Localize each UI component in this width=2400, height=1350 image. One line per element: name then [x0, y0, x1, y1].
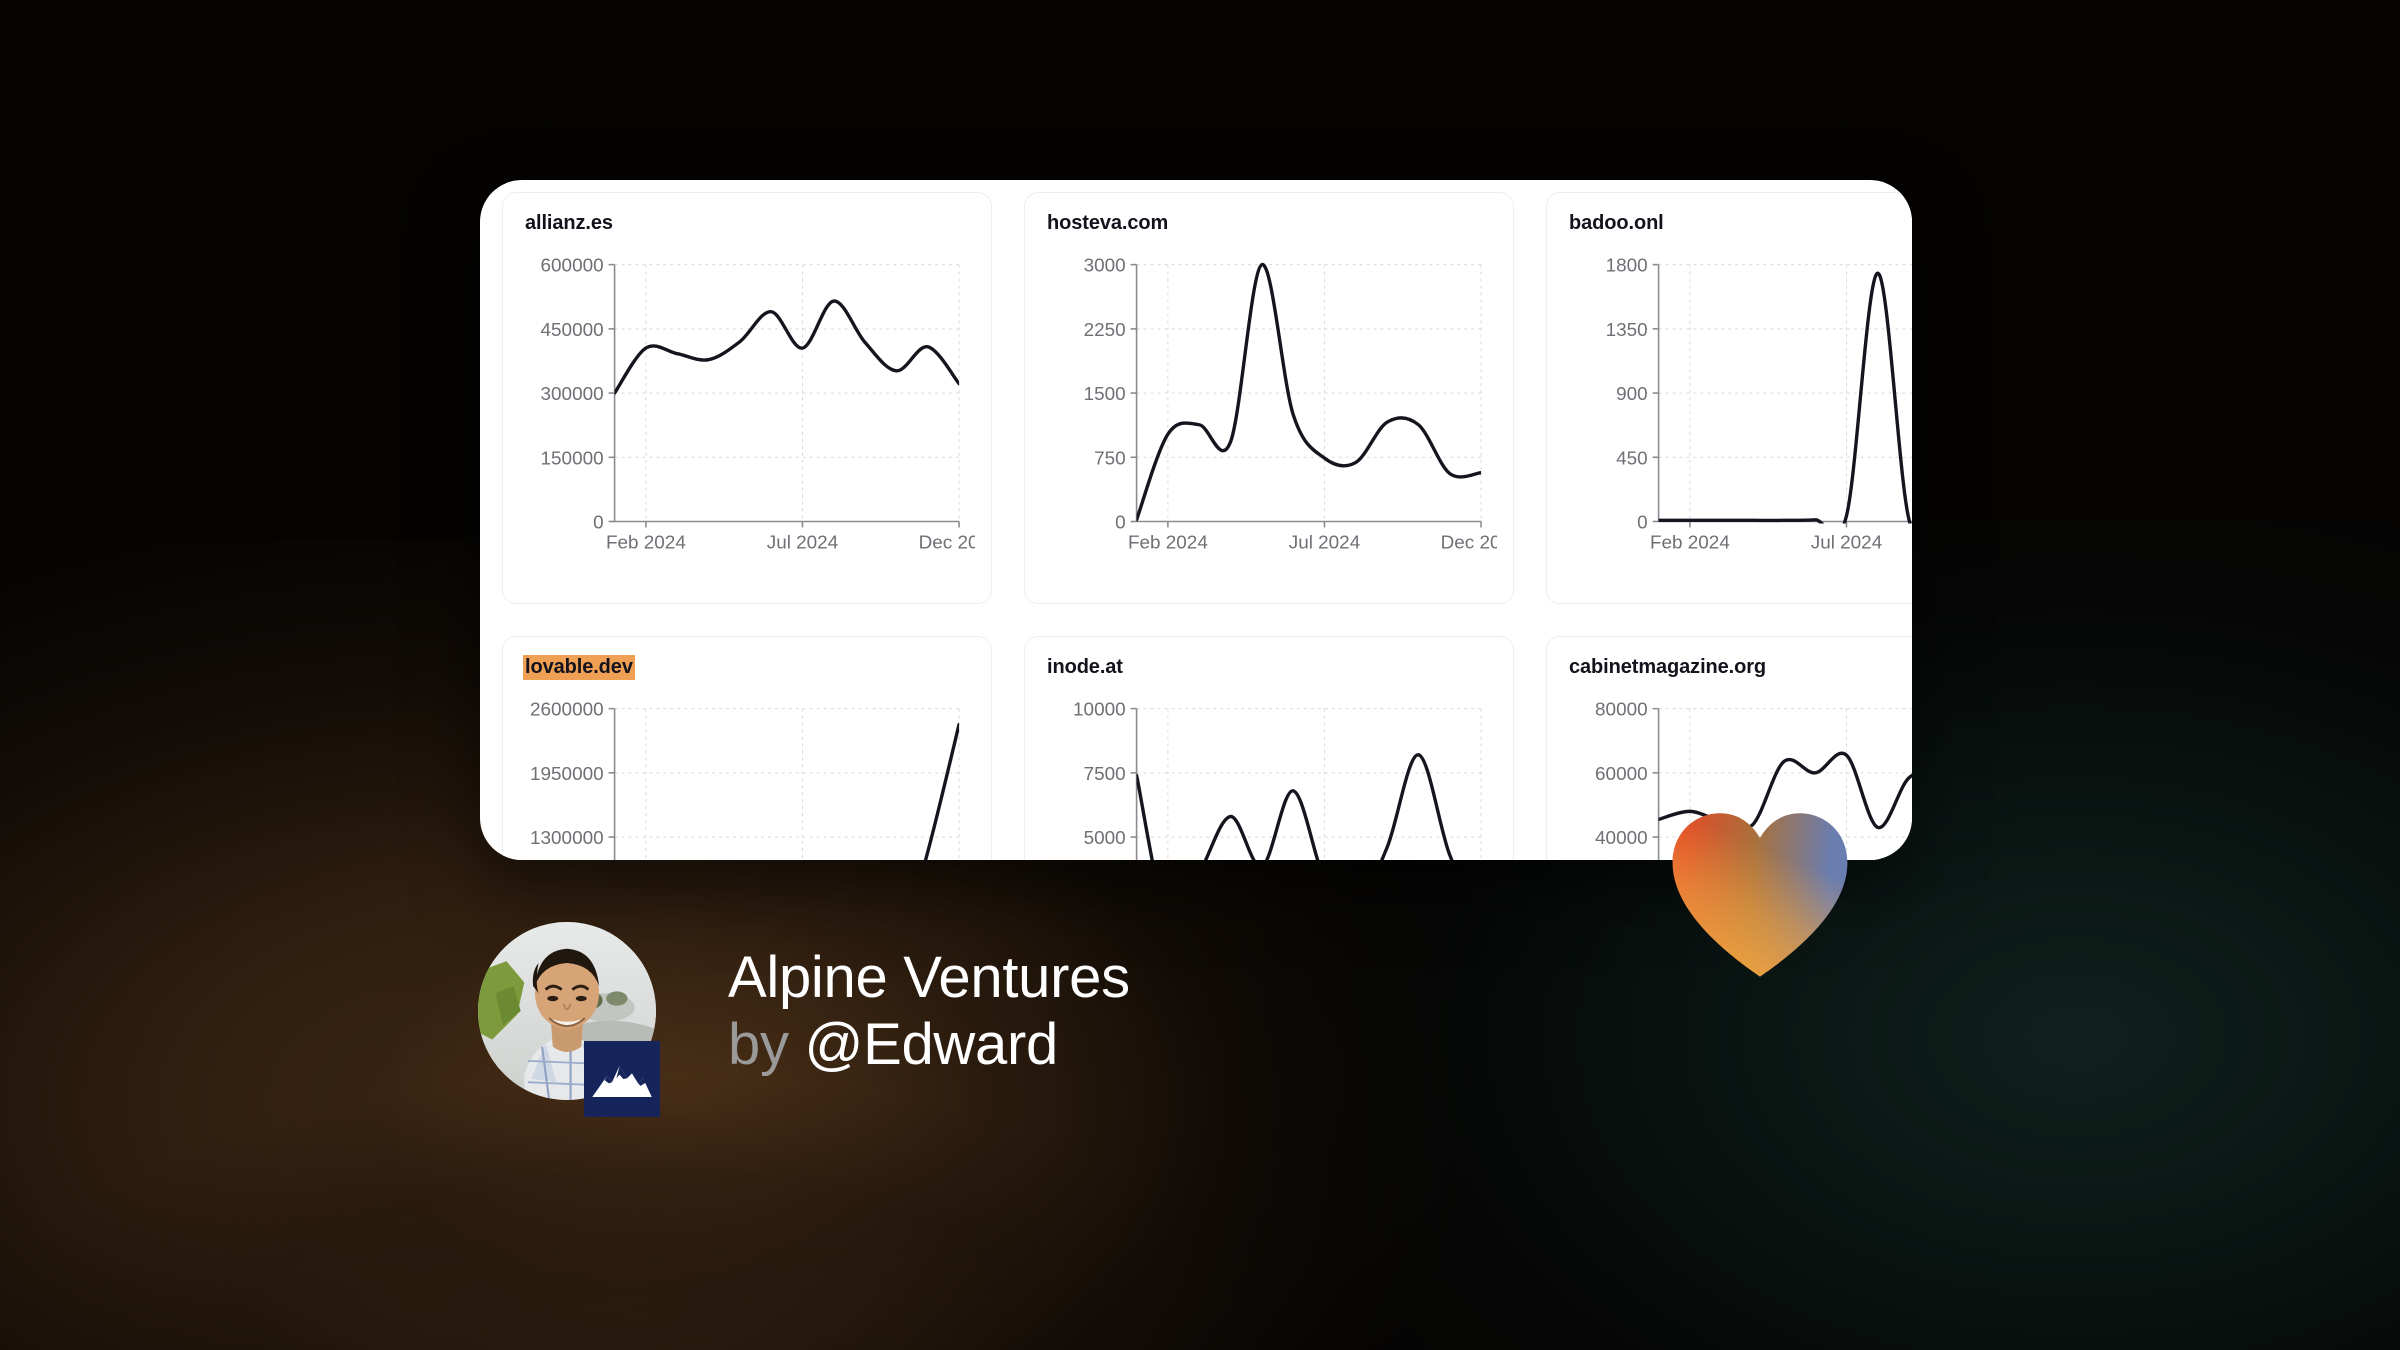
- brand-byline: by @Edward: [728, 1014, 1130, 1075]
- branding-row: Alpine Ventures by @Edward: [478, 922, 1130, 1100]
- svg-text:900: 900: [1616, 384, 1648, 405]
- chart-card[interactable]: badoo.onl045090013501800Feb 2024Jul 2024…: [1546, 192, 1912, 604]
- chart-series-line: [1137, 265, 1481, 520]
- brand-handle: @Edward: [805, 1012, 1058, 1077]
- chart-card-title: badoo.onl: [1567, 211, 1666, 236]
- chart-card-title: allianz.es: [523, 211, 615, 236]
- chart-plot: 045090013501800Feb 2024Jul 2024Dec 2024: [1563, 250, 1912, 566]
- chart-card[interactable]: inode.at25005000750010000Feb 2024Jul 202…: [1024, 636, 1514, 860]
- chart-grid: allianz.es0150000300000450000600000Feb 2…: [502, 192, 1912, 860]
- chart-series-line: [615, 301, 959, 393]
- svg-text:450: 450: [1616, 448, 1648, 469]
- brand-title: Alpine Ventures: [728, 947, 1130, 1008]
- svg-text:600000: 600000: [541, 256, 604, 277]
- chart-plot: 25005000750010000Feb 2024Jul 2024Dec 202…: [1041, 694, 1497, 860]
- chart-card[interactable]: allianz.es0150000300000450000600000Feb 2…: [502, 192, 992, 604]
- svg-text:300000: 300000: [541, 384, 604, 405]
- avatar-block: [478, 922, 656, 1100]
- svg-text:150000: 150000: [541, 448, 604, 469]
- svg-text:60000: 60000: [1595, 764, 1648, 785]
- screenshot-stage: allianz.es0150000300000450000600000Feb 2…: [0, 0, 2400, 1350]
- brand-by-label: by: [728, 1012, 789, 1077]
- chart-card-title: hosteva.com: [1045, 211, 1170, 236]
- svg-text:7500: 7500: [1084, 764, 1126, 785]
- svg-text:10000: 10000: [1073, 700, 1126, 721]
- svg-text:1300000: 1300000: [530, 828, 604, 849]
- svg-text:Jul 2024: Jul 2024: [1811, 532, 1882, 553]
- chart-series-line: [615, 724, 959, 860]
- chart-plot: 0150000300000450000600000Feb 2024Jul 202…: [519, 250, 975, 566]
- svg-text:40000: 40000: [1595, 828, 1648, 849]
- svg-text:1950000: 1950000: [530, 764, 604, 785]
- svg-text:2250: 2250: [1084, 320, 1126, 341]
- svg-text:750: 750: [1094, 448, 1126, 469]
- svg-text:Dec 2024: Dec 2024: [1441, 532, 1497, 553]
- svg-text:Feb 2024: Feb 2024: [606, 532, 686, 553]
- chart-card[interactable]: hosteva.com0750150022503000Feb 2024Jul 2…: [1024, 192, 1514, 604]
- brand-text: Alpine Ventures by @Edward: [728, 947, 1130, 1076]
- gradient-heart-icon: [1665, 798, 1855, 988]
- chart-card-title: cabinetmagazine.org: [1567, 655, 1768, 680]
- svg-text:0: 0: [593, 512, 604, 533]
- chart-card-title: inode.at: [1045, 655, 1125, 680]
- svg-text:1500: 1500: [1084, 384, 1126, 405]
- svg-text:Dec 2024: Dec 2024: [919, 532, 975, 553]
- svg-text:450000: 450000: [541, 320, 604, 341]
- chart-card-title: lovable.dev: [523, 655, 635, 680]
- svg-text:5000: 5000: [1084, 828, 1126, 849]
- svg-text:Feb 2024: Feb 2024: [1650, 532, 1730, 553]
- chart-card[interactable]: lovable.dev650000130000019500002600000Fe…: [502, 636, 992, 860]
- svg-text:0: 0: [1115, 512, 1126, 533]
- svg-text:3000: 3000: [1084, 256, 1126, 277]
- svg-text:Feb 2024: Feb 2024: [1128, 532, 1208, 553]
- svg-text:1800: 1800: [1606, 256, 1648, 277]
- svg-text:2600000: 2600000: [530, 700, 604, 721]
- chart-series-line: [1659, 273, 1912, 538]
- chart-plot: 0750150022503000Feb 2024Jul 2024Dec 2024: [1041, 250, 1497, 566]
- chart-plot: 650000130000019500002600000Feb 2024Jul 2…: [519, 694, 975, 860]
- svg-text:Jul 2024: Jul 2024: [1289, 532, 1360, 553]
- svg-text:80000: 80000: [1595, 700, 1648, 721]
- svg-text:1350: 1350: [1606, 320, 1648, 341]
- svg-text:0: 0: [1637, 512, 1648, 533]
- chart-series-line: [1137, 755, 1481, 860]
- alpine-mountain-logo-badge: [584, 1041, 660, 1117]
- dashboard-panel: allianz.es0150000300000450000600000Feb 2…: [480, 180, 1912, 860]
- svg-text:Jul 2024: Jul 2024: [767, 532, 838, 553]
